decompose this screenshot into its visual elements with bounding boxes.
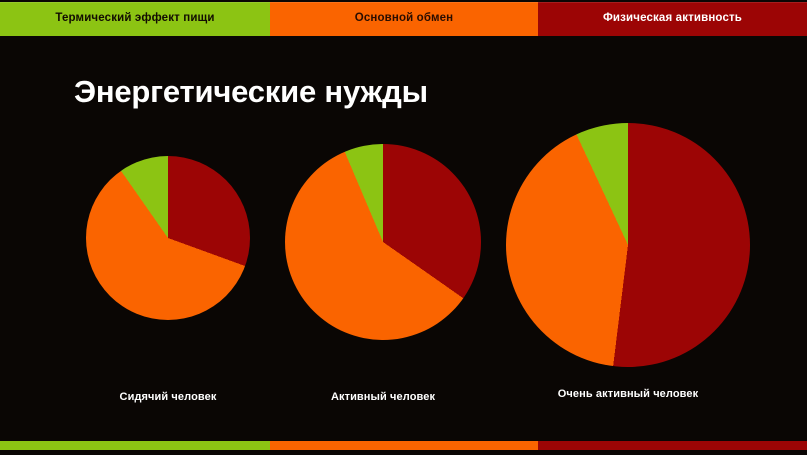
pie-slices-active	[285, 144, 481, 340]
footer-segment-physical-activity	[538, 441, 807, 450]
pie-caption-very-active: Очень активный человек	[478, 389, 778, 400]
pie-slices-sedentary	[86, 156, 250, 320]
slide-canvas: Термический эффект пищи Основной обмен Ф…	[0, 0, 807, 455]
footer-bar	[0, 441, 807, 450]
pie-slices-very-active	[506, 123, 750, 367]
footer-segment-basal-metabolism	[270, 441, 538, 450]
pie-chart-group: Сидячий человек Активный человек Очень а…	[0, 0, 807, 455]
footer-segment-thermic-effect	[0, 441, 270, 450]
